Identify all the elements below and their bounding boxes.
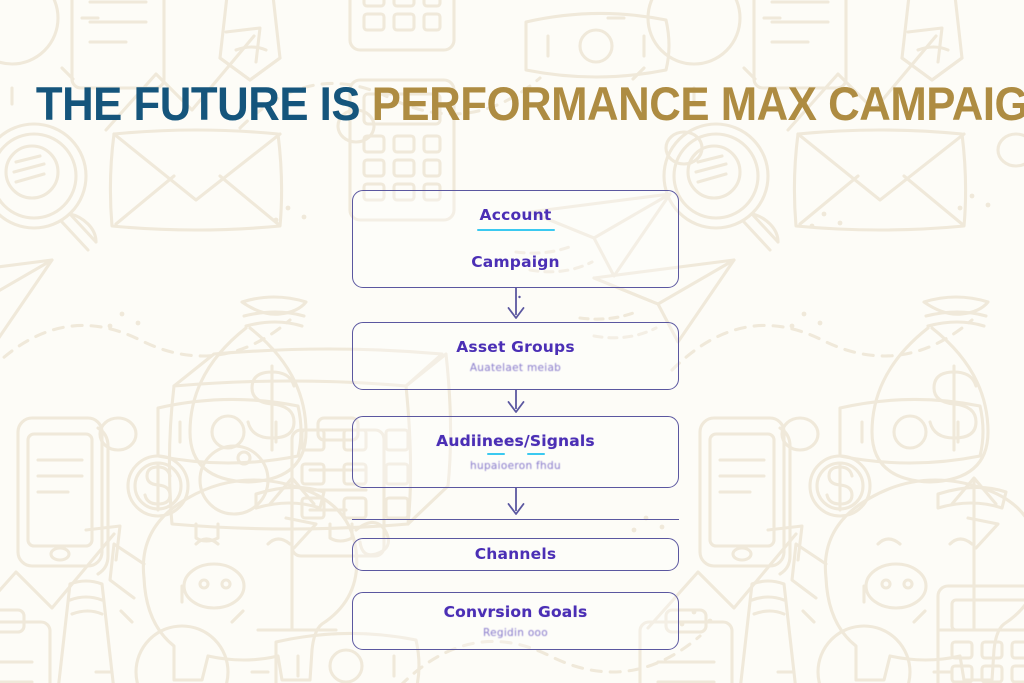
flow-node-account-title: Account <box>477 206 555 225</box>
title-segment-gold: PERFORMANCE MAX CAMPAIGNS <box>372 77 1024 130</box>
flow-node-audiences-signals-subtitle: hupaioeron fhdu <box>470 460 561 472</box>
spacer-above-channels <box>352 520 679 538</box>
performance-max-flowchart: Account Campaign Asset Groups Auatelaet … <box>352 190 679 650</box>
flow-node-asset-groups-subtitle: Auatelaet meiab <box>470 362 561 374</box>
flow-node-channels[interactable]: Channels <box>352 538 679 571</box>
slide-canvas: THE FUTURE IS PERFORMANCE MAX CAMPAIGNS … <box>0 0 1024 683</box>
title-segment-dark: THE FUTURE IS <box>36 77 372 130</box>
flow-node-account[interactable]: Account Campaign <box>352 190 679 288</box>
flow-node-conversion-goals[interactable]: Convrsion Goals Regidin ooo <box>352 592 679 650</box>
flow-node-conversion-goals-title: Convrsion Goals <box>444 603 588 622</box>
connector-audiences-to-channels <box>352 488 679 519</box>
connector-asset-groups-to-audiences <box>352 390 679 416</box>
account-cyan-underline <box>477 229 555 231</box>
flow-node-conversion-goals-subtitle: Regidin ooo <box>483 627 548 639</box>
flow-node-asset-groups[interactable]: Asset Groups Auatelaet meiab <box>352 322 679 390</box>
flow-node-asset-groups-title: Asset Groups <box>456 338 575 357</box>
cyan-dash-right <box>527 453 545 455</box>
connector-account-to-asset-groups <box>352 288 679 322</box>
spacer-above-conversion-goals <box>352 571 679 592</box>
flow-node-account-subtitle: Campaign <box>471 253 560 272</box>
account-title-block: Account <box>477 206 555 231</box>
arrow-down-icon <box>505 288 527 322</box>
arrow-down-icon <box>505 390 527 416</box>
page-title: THE FUTURE IS PERFORMANCE MAX CAMPAIGNS <box>36 79 988 128</box>
flow-node-audiences-signals[interactable]: Audiinees/Signals hupaioeron fhdu <box>352 416 679 488</box>
cyan-dash-left <box>487 453 505 455</box>
audiences-cyan-dashes <box>487 453 545 455</box>
flow-node-audiences-signals-title: Audiinees/Signals <box>436 432 595 451</box>
arrow-down-icon <box>505 488 527 519</box>
flow-node-channels-title: Channels <box>475 545 557 564</box>
